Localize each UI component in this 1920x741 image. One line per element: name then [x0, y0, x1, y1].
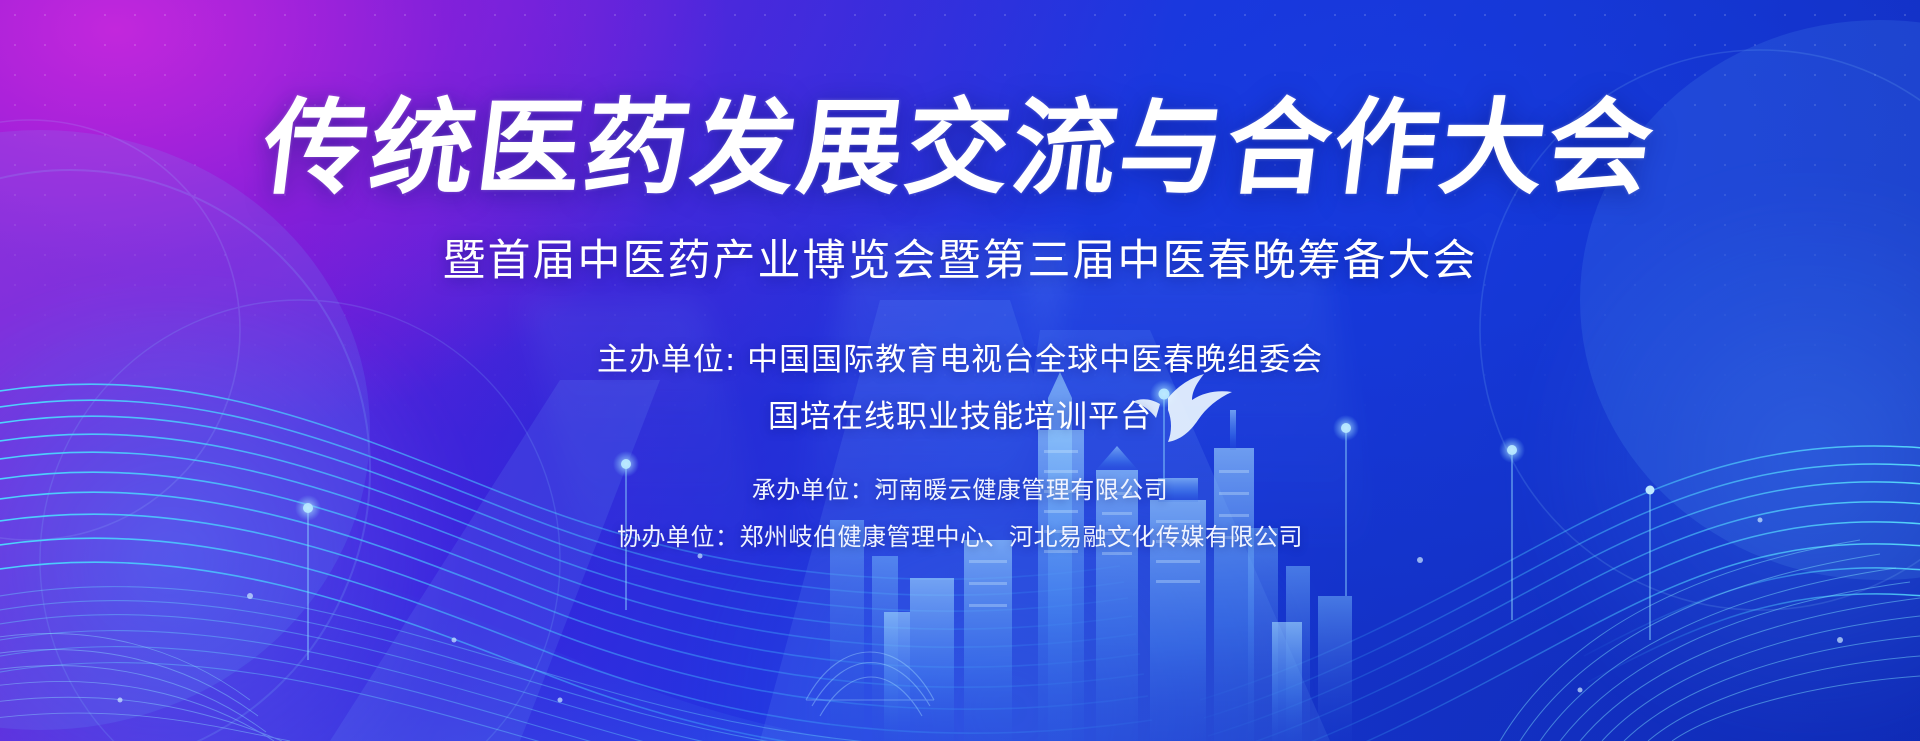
banner-content: 传统医药发展交流与合作大会 暨首届中医药产业博览会暨第三届中医春晚筹备大会 主办… — [0, 0, 1920, 741]
host-organizer-line-2: 国培在线职业技能培训平台 — [768, 391, 1152, 436]
host-organizer-line-1: 主办单位: 中国国际教育电视台全球中医春晚组委会 — [597, 334, 1323, 379]
conference-banner: 传统医药发展交流与合作大会 暨首届中医药产业博览会暨第三届中医春晚筹备大会 主办… — [0, 0, 1920, 741]
undertaker-organizer-line: 承办单位：河南暖云健康管理有限公司 — [752, 470, 1169, 505]
page-title: 传统医药发展交流与合作大会 — [258, 92, 1663, 204]
banner-subtitle: 暨首届中医药产业博览会暨第三届中医春晚筹备大会 — [443, 226, 1478, 288]
co-organizer-line: 协办单位：郑州岐伯健康管理中心、河北易融文化传媒有限公司 — [617, 517, 1303, 552]
